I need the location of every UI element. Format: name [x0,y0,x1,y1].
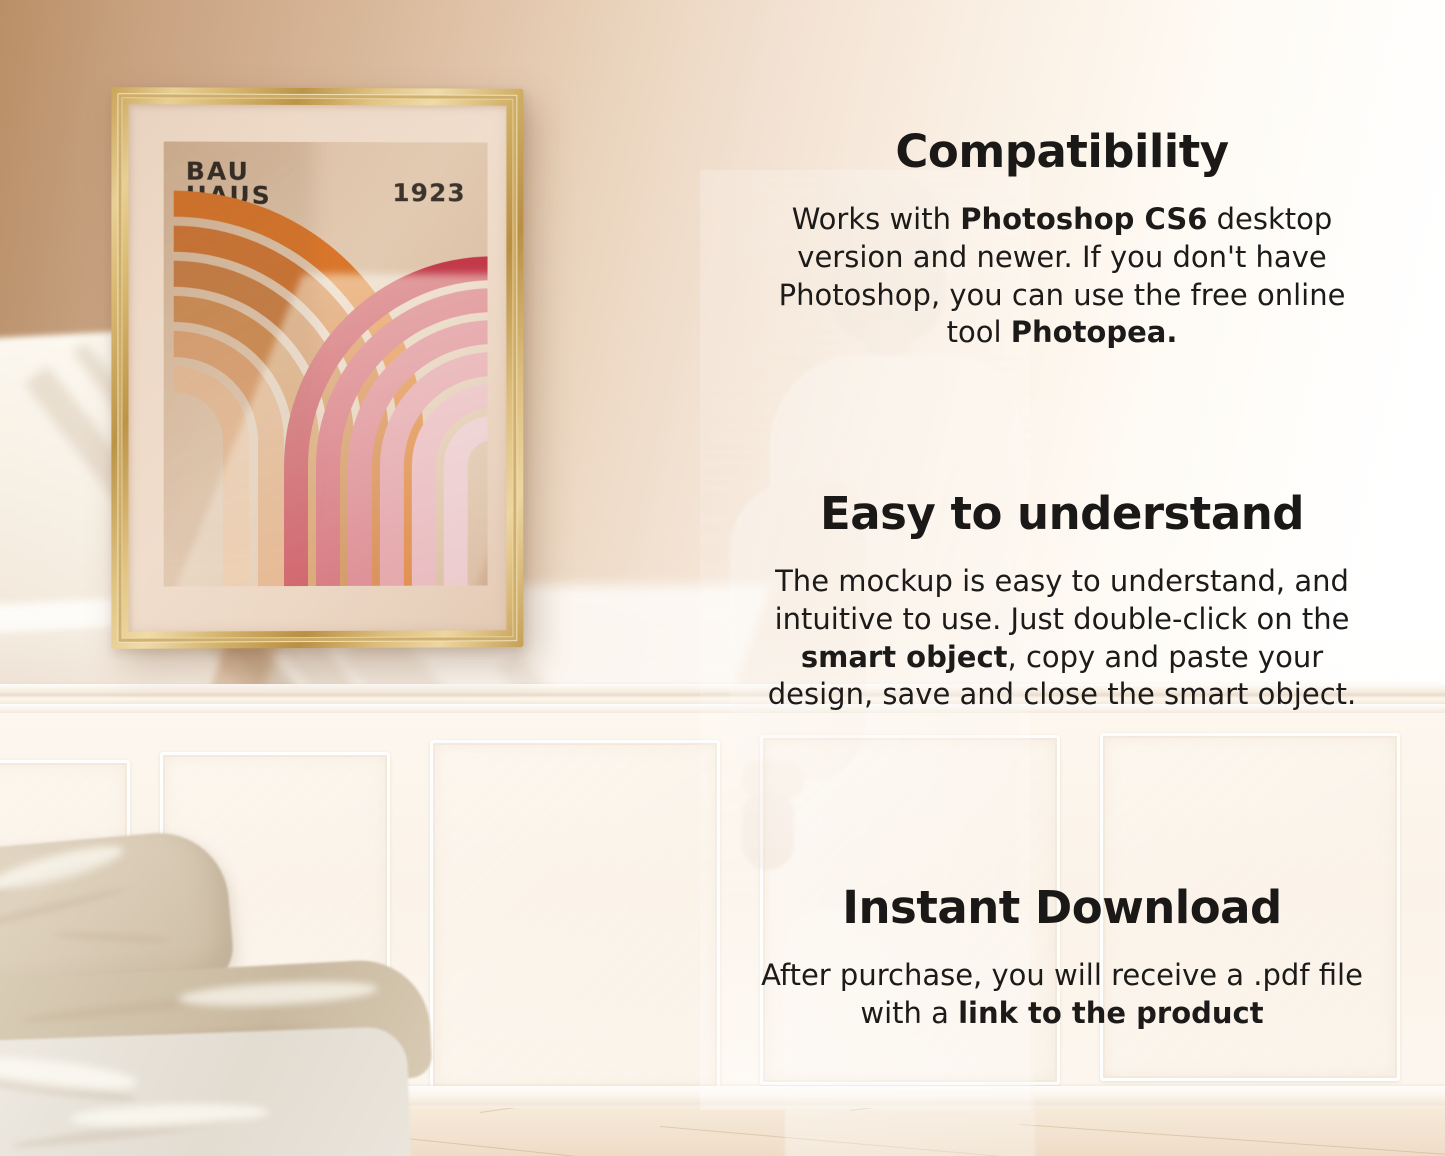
poster-corner-shadow [164,141,314,552]
section-body: After purchase, you will receive a .pdf … [756,957,1368,1032]
section-heading: Easy to understand [756,490,1368,537]
section-body: The mockup is easy to understand, and in… [756,563,1368,714]
bauhaus-poster-artwork: BAU HAUS 1923 [164,141,488,586]
framed-poster[interactable]: BAU HAUS 1923 [111,87,523,649]
section-instant-download: Instant Download After purchase, you wil… [756,884,1368,1033]
section-compatibility: Compatibility Works with Photoshop CS6 d… [756,128,1368,352]
room-mockup-scene: BAU HAUS 1923 [0,0,1445,1156]
bed [0,845,490,1156]
section-heading: Instant Download [756,884,1368,931]
section-easy-to-understand: Easy to understand The mockup is easy to… [756,490,1368,714]
section-body: Works with Photoshop CS6 desktop version… [756,201,1368,352]
section-heading: Compatibility [756,128,1368,175]
feature-text-column: Compatibility Works with Photoshop CS6 d… [756,0,1368,1156]
duvet-blanket [0,1026,413,1156]
